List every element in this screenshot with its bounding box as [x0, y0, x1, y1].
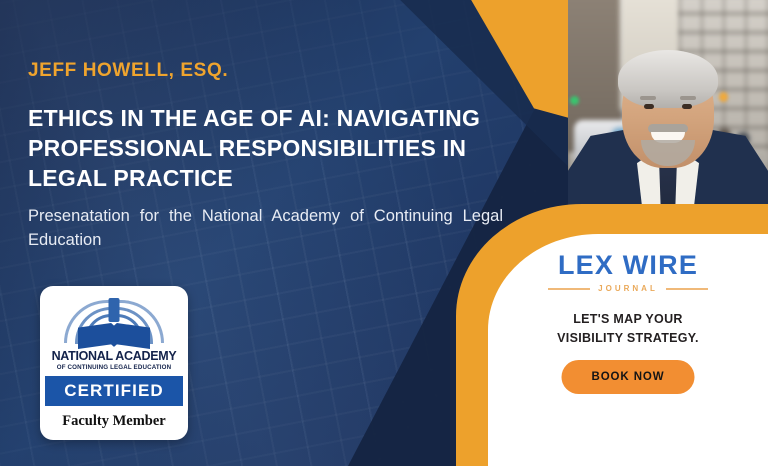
photo-hair: [618, 50, 718, 108]
divider-line-left: [548, 288, 590, 290]
certification-badge: NATIONAL ACADEMY OF CONTINUING LEGAL EDU…: [40, 286, 188, 440]
badge-inner: NATIONAL ACADEMY OF CONTINUING LEGAL EDU…: [45, 291, 183, 435]
promo-tagline: LET'S MAP YOUR VISIBILITY STRATEGY.: [488, 310, 768, 349]
speaker-photo: [568, 0, 768, 238]
promo-panel: LEX WIRE JOURNAL LET'S MAP YOUR VISIBILI…: [488, 234, 768, 466]
badge-role: Faculty Member: [45, 413, 183, 430]
speaker-name: JEFF HOWELL, ESQ.: [28, 60, 228, 82]
badge-org-line2: OF CONTINUING LEGAL EDUCATION: [45, 364, 183, 371]
photo-traffic-light-green: [570, 96, 579, 105]
photo-eyebrow-right: [680, 96, 696, 100]
book-now-button[interactable]: BOOK NOW: [562, 360, 695, 394]
book-shape-icon: [78, 323, 150, 349]
promo-tagline-line1: LET'S MAP YOUR: [488, 310, 768, 329]
page-title: ETHICS IN THE AGE OF AI: NAVIGATING PROF…: [28, 104, 533, 194]
open-book-icon: [45, 296, 183, 348]
divider-line-right: [666, 288, 708, 290]
promo-tagline-line2: VISIBILITY STRATEGY.: [488, 329, 768, 348]
badge-org-line1: NATIONAL ACADEMY: [45, 349, 183, 363]
photo-street-light: [719, 92, 728, 102]
photo-eye-right: [682, 104, 692, 109]
photo-eyebrow-left: [640, 96, 656, 100]
brand-name: LEX WIRE: [488, 252, 768, 279]
badge-status-banner: CERTIFIED: [45, 376, 183, 406]
presentation-slide: JEFF HOWELL, ESQ. ETHICS IN THE AGE OF A…: [0, 0, 768, 466]
page-subtitle: Presenatation for the National Academy o…: [28, 205, 503, 253]
brand-subtitle-row: JOURNAL: [488, 284, 768, 293]
book-bookmark-icon: [109, 298, 120, 322]
brand-logo: LEX WIRE JOURNAL: [488, 252, 768, 293]
status-badge: CERTIFIED: [45, 381, 183, 401]
brand-subtitle: JOURNAL: [598, 284, 658, 293]
photo-eye-left: [644, 104, 654, 109]
